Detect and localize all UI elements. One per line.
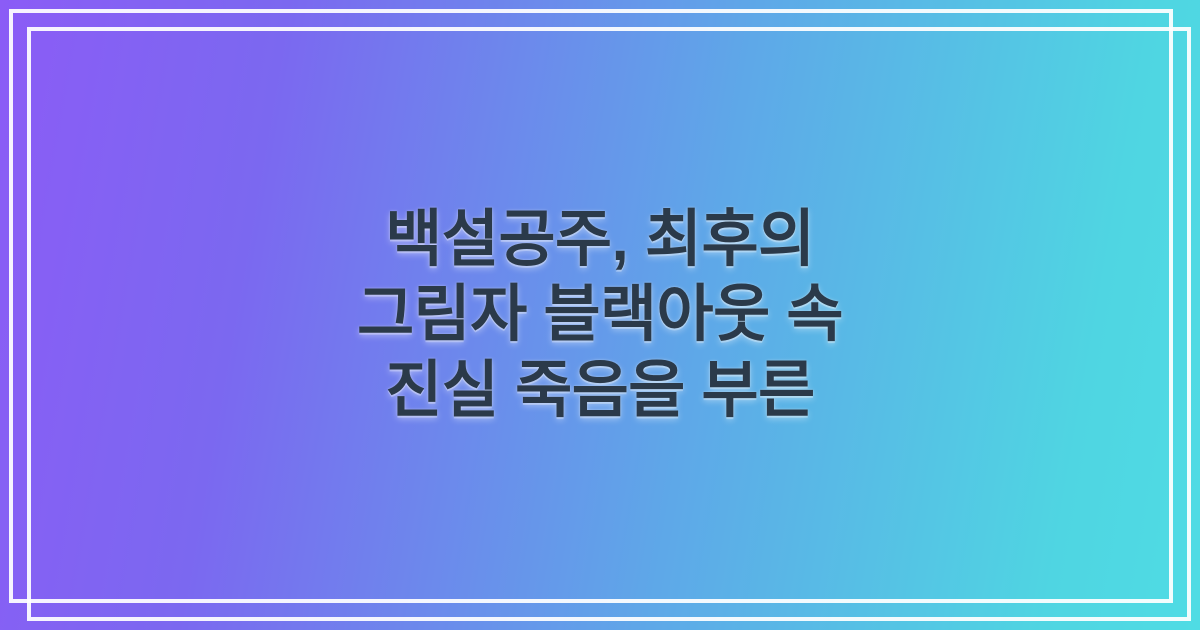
title-area: 백설공주, 최후의 그림자 블랙아웃 속 진실 죽음을 부른: [0, 0, 1200, 630]
thumbnail-card: 백설공주, 최후의 그림자 블랙아웃 속 진실 죽음을 부른: [0, 0, 1200, 630]
headline-line-1: 백설공주, 최후의: [357, 202, 843, 278]
headline-line-2: 그림자 블랙아웃 속: [357, 277, 843, 353]
headline-title: 백설공주, 최후의 그림자 블랙아웃 속 진실 죽음을 부른: [357, 202, 843, 429]
headline-line-3: 진실 죽음을 부른: [357, 353, 843, 429]
